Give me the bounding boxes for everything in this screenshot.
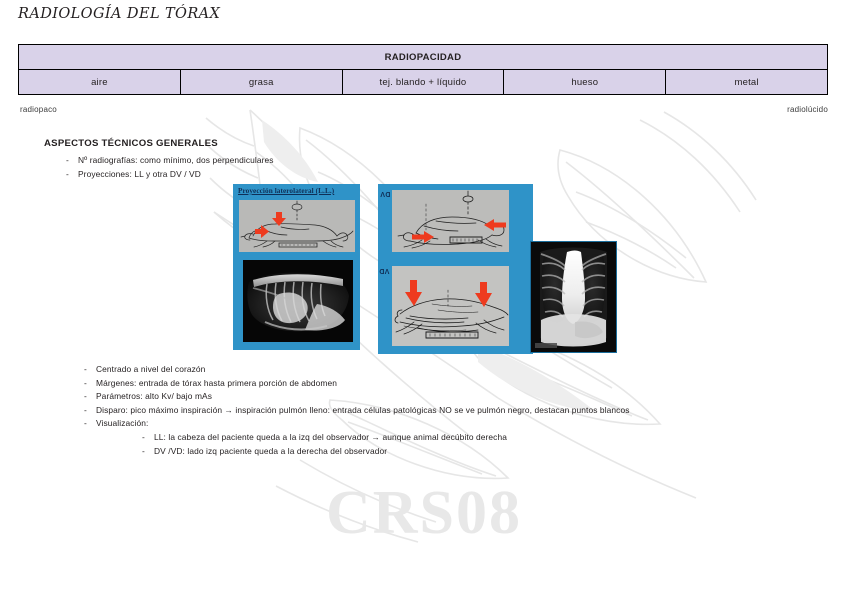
- bullet-text: Proyecciones: LL y otra DV / VD: [78, 168, 764, 182]
- section-heading-aspectos: ASPECTOS TÉCNICOS GENERALES: [44, 138, 764, 151]
- table-cell-grasa: grasa: [180, 70, 342, 95]
- radiopacity-table: RADIOPACIDAD aire grasa tej. blando + lí…: [18, 44, 828, 95]
- bullet-dash: -: [84, 377, 96, 391]
- bullet-text: Nº radiografías: como mínimo, dos perpen…: [78, 154, 764, 168]
- page-title: RADIOLOGÍA DEL TÓRAX: [18, 6, 220, 22]
- list-item: - Visualización:: [62, 417, 802, 431]
- table-cell-metal: metal: [666, 70, 828, 95]
- bullet-text: LL: la cabeza del paciente queda a la iz…: [154, 431, 802, 445]
- dog-positioning-dorsoventral-diagram: [392, 190, 509, 252]
- crs08-watermark: CRS08: [0, 478, 848, 549]
- bullet-dash: -: [84, 404, 96, 418]
- frontal-thorax-radiograph: [530, 241, 617, 353]
- bullet-text: Parámetros: alto Kv/ bajo mAs: [96, 390, 802, 404]
- list-item: - Parámetros: alto Kv/ bajo mAs: [62, 390, 802, 404]
- dog-positioning-ventrodorsal-diagram: [392, 266, 509, 346]
- list-item: - Nº radiografías: como mínimo, dos perp…: [44, 154, 764, 168]
- panel-label-dv: DV: [380, 190, 390, 197]
- list-item: - DV /VD: lado izq paciente queda a la d…: [62, 445, 802, 459]
- table-cell-aire: aire: [19, 70, 181, 95]
- bullet-text: Centrado a nivel del corazón: [96, 363, 802, 377]
- bullet-text: Márgenes: entrada de tórax hasta primera…: [96, 377, 802, 391]
- panel-title-laterolateral: Proyección laterolateral (L.L.): [238, 187, 334, 195]
- bullet-dash: -: [84, 417, 96, 431]
- table-row-header: RADIOPACIDAD: [19, 45, 828, 70]
- bullet-dash: -: [66, 154, 78, 168]
- notes-top-section: ASPECTOS TÉCNICOS GENERALES - Nº radiogr…: [44, 138, 764, 181]
- scale-label-radiopaco: radiopaco: [20, 105, 57, 114]
- list-item: - Márgenes: entrada de tórax hasta prime…: [62, 377, 802, 391]
- list-item: - Proyecciones: LL y otra DV / VD: [44, 168, 764, 182]
- panel-laterolateral: Proyección laterolateral (L.L.): [233, 184, 360, 350]
- table-row-values: aire grasa tej. blando + líquido hueso m…: [19, 70, 828, 95]
- list-item: - Centrado a nivel del corazón: [62, 363, 802, 377]
- radiopacity-header-cell: RADIOPACIDAD: [19, 45, 828, 70]
- bullet-dash: -: [142, 431, 154, 445]
- figure-block: Proyección laterolateral (L.L.): [233, 184, 623, 354]
- bullet-text: Disparo: pico máximo inspiración → inspi…: [96, 404, 802, 418]
- table-cell-hueso: hueso: [504, 70, 666, 95]
- bullet-dash: -: [142, 445, 154, 459]
- bullet-dash: -: [84, 390, 96, 404]
- table-cell-tejido: tej. blando + líquido: [342, 70, 504, 95]
- panel-dv-vd: DV VD: [378, 184, 533, 354]
- bullet-dash: -: [66, 168, 78, 182]
- list-item: - Disparo: pico máximo inspiración → ins…: [62, 404, 802, 418]
- panel-label-vd: VD: [379, 267, 389, 274]
- list-item: - LL: la cabeza del paciente queda a la …: [62, 431, 802, 445]
- bullet-text: DV /VD: lado izq paciente queda a la der…: [154, 445, 802, 459]
- bullet-text: Visualización:: [96, 417, 802, 431]
- notes-bottom-section: - Centrado a nivel del corazón - Márgene…: [62, 363, 802, 458]
- scale-label-radiolucido: radiolúcido: [787, 105, 828, 114]
- bullet-dash: -: [84, 363, 96, 377]
- lateral-thorax-radiograph: [243, 260, 353, 342]
- dog-positioning-lateral-diagram: [239, 200, 355, 252]
